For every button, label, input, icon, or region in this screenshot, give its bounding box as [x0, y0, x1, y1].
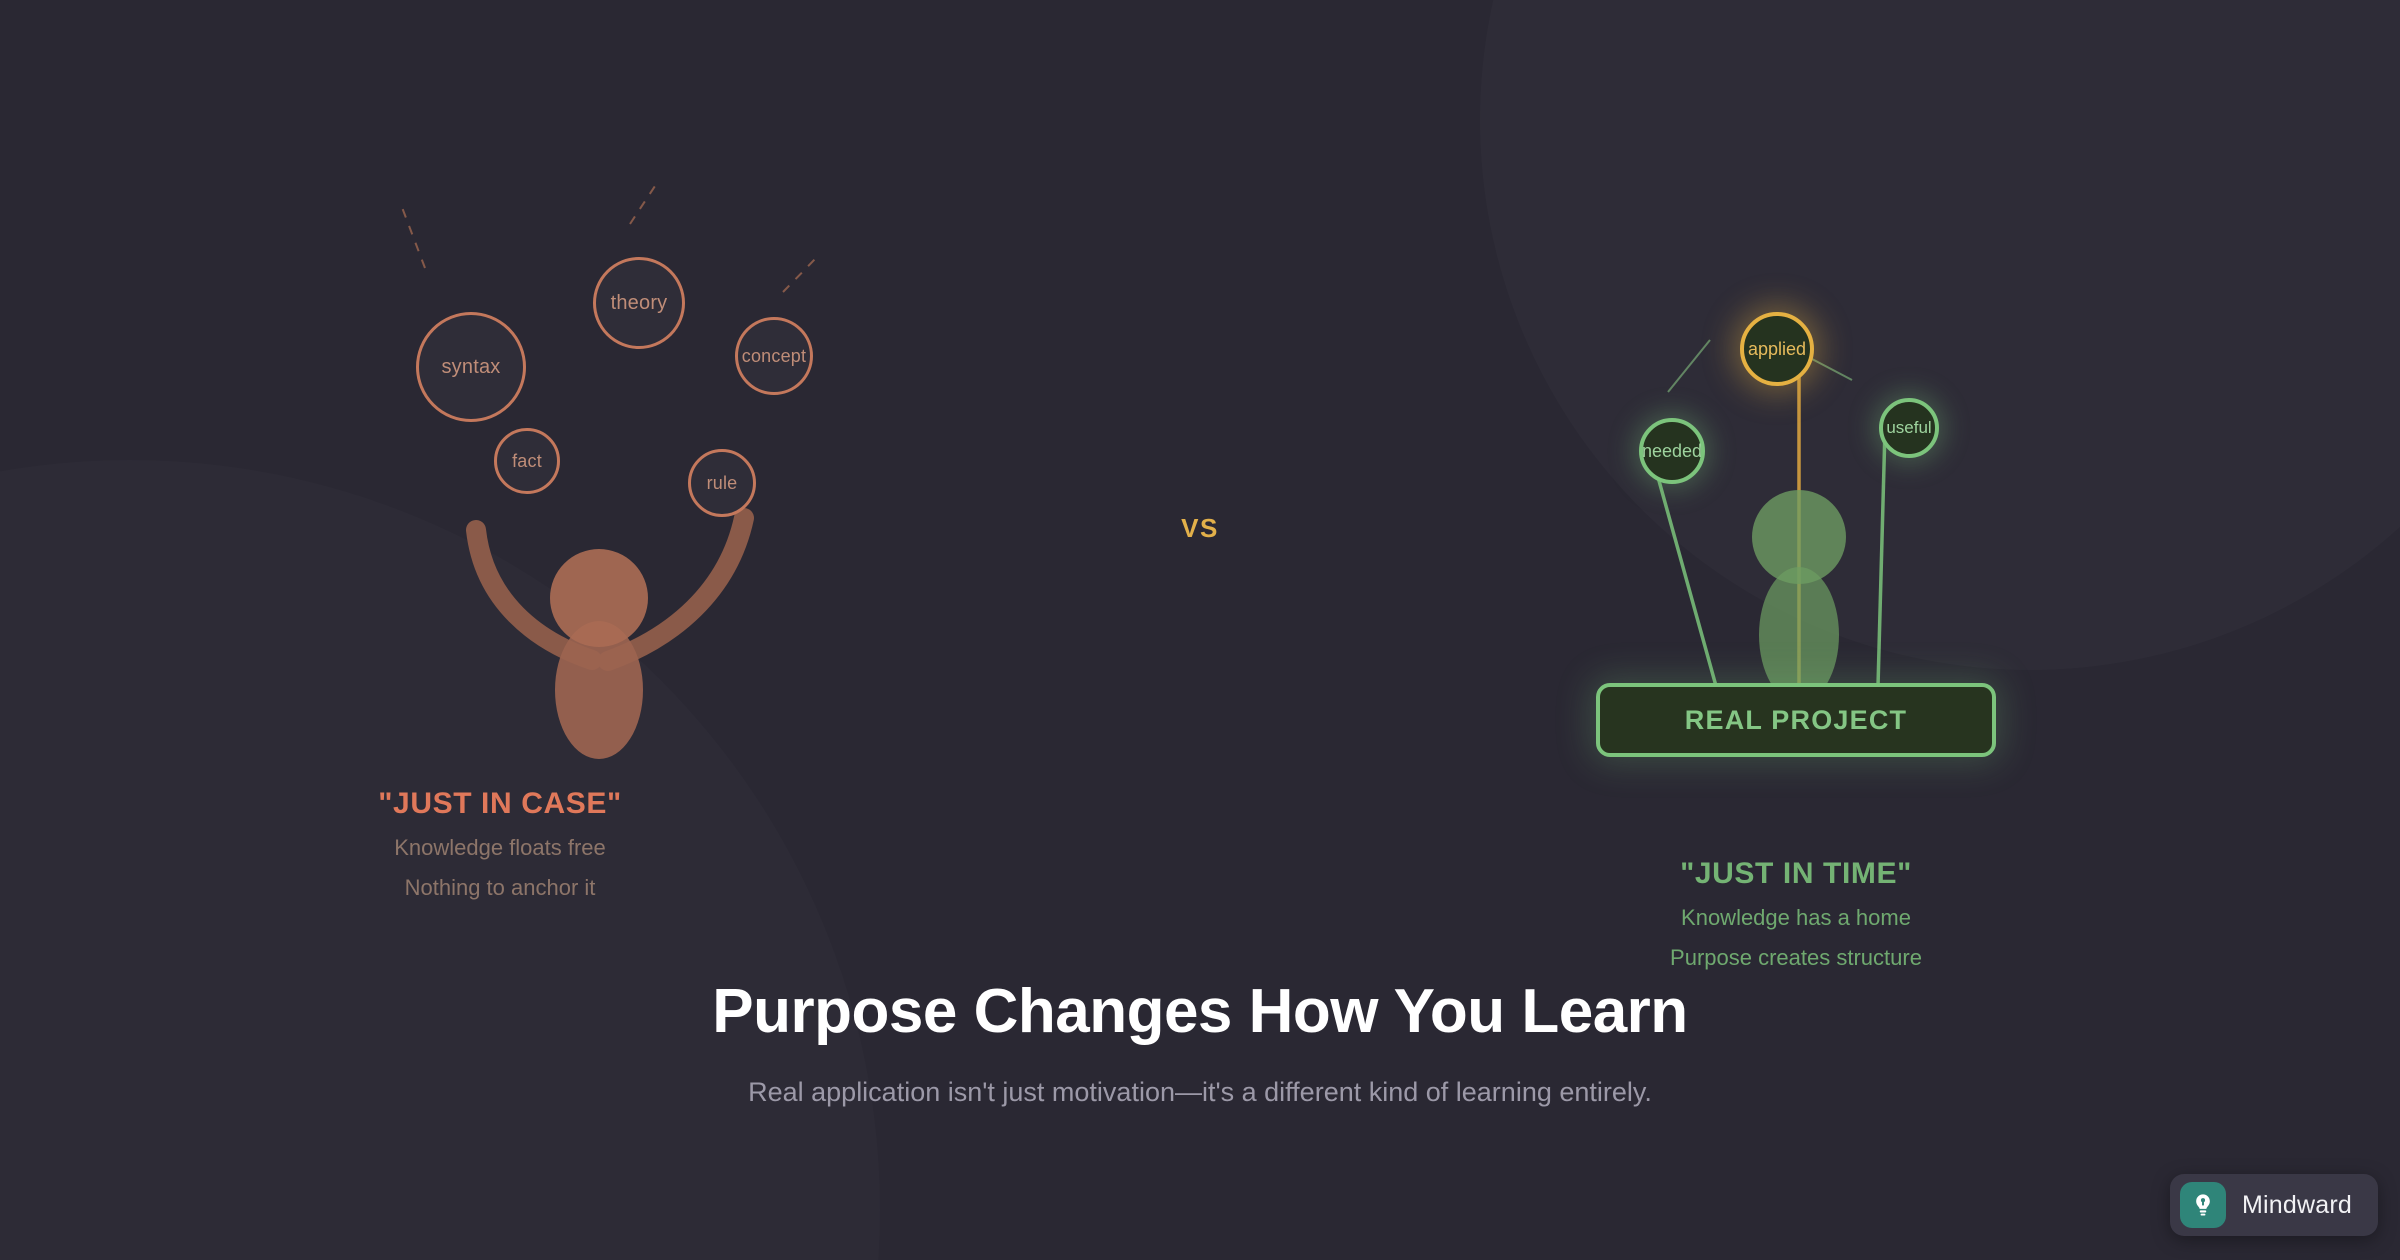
bubble-theory[interactable]: theory	[593, 257, 685, 349]
link-needed-project	[1651, 452, 1716, 686]
node-applied[interactable]: applied	[1740, 312, 1814, 386]
node-label: applied	[1748, 339, 1806, 360]
headline-block: Purpose Changes How You Learn Real appli…	[0, 976, 2400, 1108]
real-project-label: REAL PROJECT	[1685, 705, 1907, 736]
node-useful[interactable]: useful	[1879, 398, 1939, 458]
real-project-anchor[interactable]: REAL PROJECT	[1596, 683, 1996, 757]
caption-line-2: Purpose creates structure	[1596, 945, 1996, 971]
link-useful-project	[1878, 429, 1885, 686]
bubble-fact[interactable]: fact	[494, 428, 560, 494]
node-label: needed	[1642, 441, 1702, 462]
node-label: useful	[1886, 418, 1931, 438]
mindward-label: Mindward	[2242, 1191, 2352, 1220]
bubble-concept[interactable]: concept	[735, 317, 813, 395]
mindward-badge[interactable]: Mindward	[2170, 1174, 2378, 1236]
drift-line-theory	[630, 186, 655, 224]
caption-title: "JUST IN CASE"	[300, 787, 700, 821]
bubble-syntax[interactable]: syntax	[416, 312, 526, 422]
drift-line-syntax	[400, 202, 425, 268]
drift-line-concept	[783, 256, 818, 292]
left-figure	[476, 518, 744, 759]
node-needed[interactable]: needed	[1639, 418, 1705, 484]
slide-canvas: syntax theory concept fact rule applied …	[0, 0, 2400, 1260]
caption-line-1: Knowledge floats free	[300, 835, 700, 861]
bubble-label: syntax	[441, 356, 500, 379]
caption-just-in-time: "JUST IN TIME" Knowledge has a home Purp…	[1596, 857, 1996, 971]
caption-line-2: Nothing to anchor it	[300, 875, 700, 901]
caption-title: "JUST IN TIME"	[1596, 857, 1996, 891]
bubble-label: rule	[707, 473, 738, 494]
caption-just-in-case: "JUST IN CASE" Knowledge floats free Not…	[300, 787, 700, 901]
bubble-rule[interactable]: rule	[688, 449, 756, 517]
page-title: Purpose Changes How You Learn	[0, 976, 2400, 1047]
caption-line-1: Knowledge has a home	[1596, 905, 1996, 931]
left-figure-head	[550, 549, 648, 647]
bubble-label: fact	[512, 451, 542, 472]
page-subtitle: Real application isn't just motivation—i…	[0, 1077, 2400, 1108]
lightbulb-icon	[2180, 1182, 2226, 1228]
versus-label: VS	[1181, 513, 1219, 543]
bubble-label: concept	[742, 346, 806, 367]
versus-divider: VS	[0, 513, 2400, 544]
bubble-label: theory	[611, 292, 668, 315]
link-applied-needed	[1668, 340, 1710, 392]
